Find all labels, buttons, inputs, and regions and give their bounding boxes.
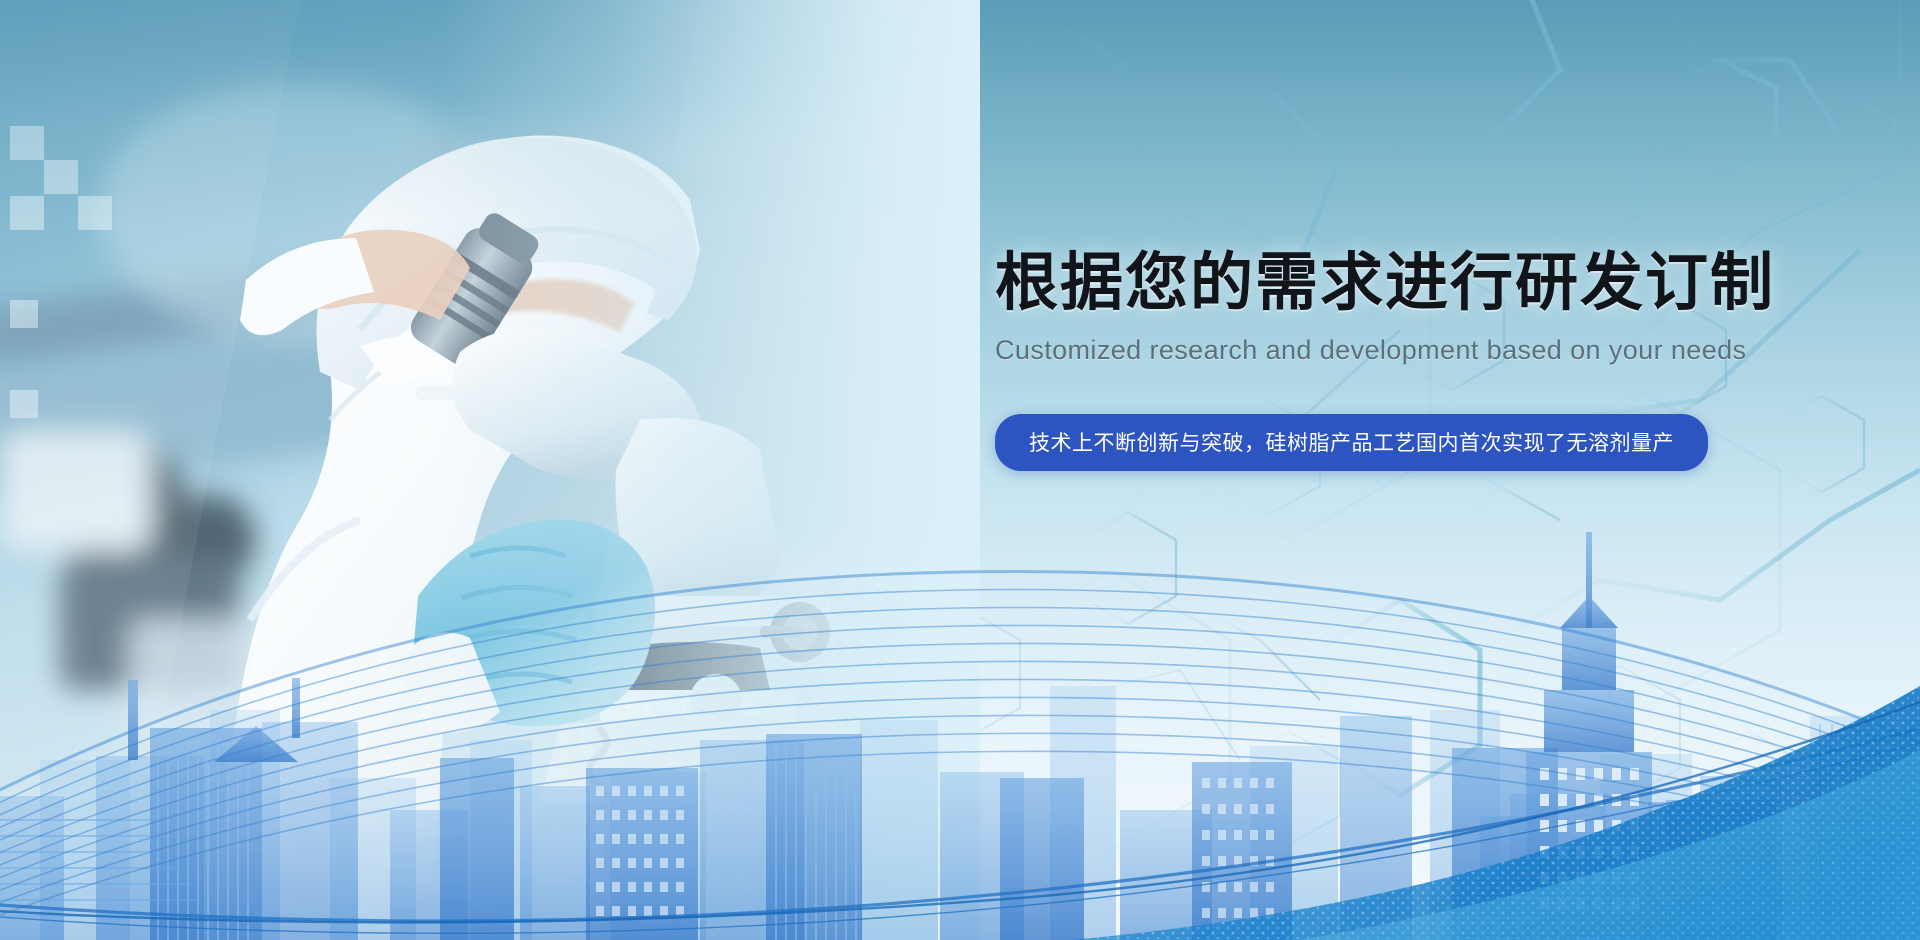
page-title: 根据您的需求进行研发订制 bbox=[995, 250, 1755, 317]
highlight-pill: 技术上不断创新与突破，硅树脂产品工艺国内首次实现了无溶剂量产 bbox=[995, 414, 1708, 471]
page-subtitle: Customized research and development base… bbox=[995, 335, 1755, 366]
city-skyline bbox=[0, 510, 1920, 940]
banner-text-block: 根据您的需求进行研发订制 Customized research and dev… bbox=[995, 250, 1755, 471]
hero-banner: 根据您的需求进行研发订制 Customized research and dev… bbox=[0, 0, 1920, 940]
